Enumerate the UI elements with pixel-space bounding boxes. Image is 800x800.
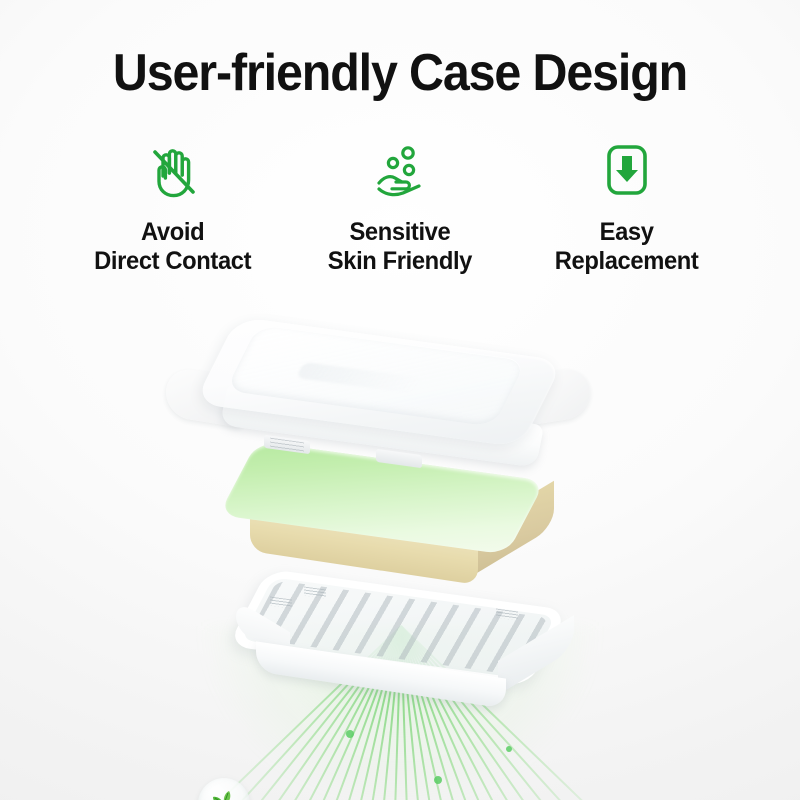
ray-dot-particle: [434, 776, 442, 784]
feature-avoid-direct-contact: Avoid Direct Contact: [60, 140, 286, 276]
feature-caption-line2: Direct Contact: [94, 247, 251, 275]
feature-caption-line2: Skin Friendly: [328, 247, 472, 275]
feature-caption-line1: Avoid: [141, 218, 204, 246]
mint-bubble-left: [198, 778, 250, 800]
feature-sensitive-skin-friendly: Sensitive Skin Friendly: [287, 140, 513, 276]
feature-row: Avoid Direct Contact Sensitive Skin Frie…: [60, 140, 740, 300]
product-layer-tray: [230, 576, 590, 708]
download-box-icon: [601, 140, 653, 202]
product-exploded-view: [0, 300, 800, 800]
feature-caption: Easy Replacement: [555, 218, 699, 276]
feature-caption: Avoid Direct Contact: [94, 218, 251, 276]
feature-easy-replacement: Easy Replacement: [514, 140, 740, 276]
lid-latch-tab: [376, 449, 422, 468]
ray-dot-particle: [506, 746, 512, 752]
hand-bubbles-icon: [370, 140, 430, 202]
feature-caption: Sensitive Skin Friendly: [328, 218, 472, 276]
page-title: User-friendly Case Design: [28, 44, 772, 102]
feature-caption-line2: Replacement: [555, 247, 699, 275]
hand-slash-icon: [145, 140, 201, 202]
ray-dot-particle: [346, 730, 354, 738]
feature-caption-line1: Sensitive: [350, 218, 451, 246]
feature-caption-line1: Easy: [600, 218, 654, 246]
product-layer-lid: [168, 328, 588, 478]
mint-leaf-icon: [209, 789, 239, 800]
product-feature-graphic: User-friendly Case Design Avoid Direct C…: [0, 0, 800, 800]
